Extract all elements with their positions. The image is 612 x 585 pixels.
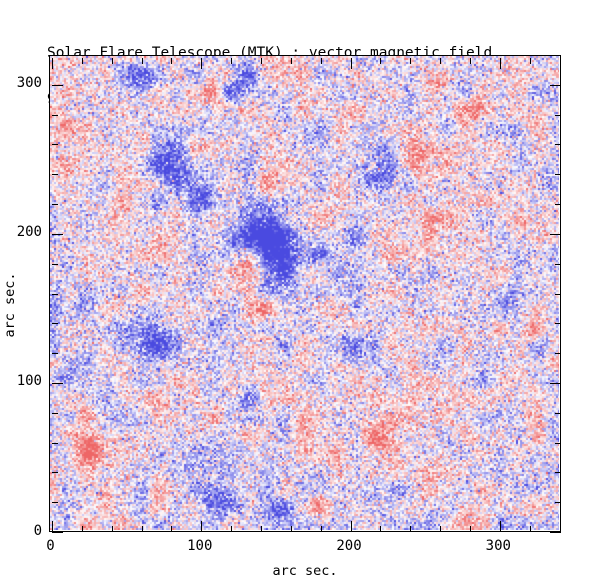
magnetogram-image: [50, 56, 559, 530]
x-tick-label: 200: [336, 538, 361, 554]
x-tick-top-minor: [142, 58, 144, 64]
x-tick-minor: [530, 526, 532, 532]
y-tick-minor: [52, 353, 58, 355]
x-tick-minor: [380, 526, 382, 532]
y-tick-right-minor: [555, 472, 561, 474]
x-tick-major: [201, 521, 203, 532]
x-tick-minor: [171, 526, 173, 532]
x-tick-minor: [261, 526, 263, 532]
x-tick-major: [500, 521, 502, 532]
x-tick-label: 100: [187, 538, 212, 554]
y-tick-major: [52, 532, 63, 534]
x-tick-top-minor: [171, 58, 173, 64]
x-tick-minor: [440, 526, 442, 532]
x-tick-top-major: [201, 58, 203, 69]
y-tick-label: 100: [17, 373, 42, 389]
x-tick-top-major: [351, 58, 353, 69]
x-tick-major: [52, 521, 54, 532]
y-tick-right-minor: [555, 413, 561, 415]
magnetogram-figure: Solar Flare Telescope (MTK) : vector mag…: [0, 0, 612, 585]
x-tick-top-minor: [82, 58, 84, 64]
y-tick-minor: [52, 472, 58, 474]
x-tick-top-minor: [291, 58, 293, 64]
y-tick-label: 200: [17, 224, 42, 240]
y-tick-right-minor: [555, 115, 561, 117]
y-tick-minor: [52, 443, 58, 445]
x-tick-minor: [82, 526, 84, 532]
x-tick-minor: [470, 526, 472, 532]
x-tick-minor: [231, 526, 233, 532]
x-tick-minor: [410, 526, 412, 532]
y-tick-right-minor: [555, 264, 561, 266]
y-tick-major: [52, 85, 63, 87]
y-tick-right-minor: [555, 144, 561, 146]
x-tick-top-minor: [261, 58, 263, 64]
y-tick-right-minor: [555, 502, 561, 504]
x-tick-top-major: [500, 58, 502, 69]
y-tick-right-minor: [555, 174, 561, 176]
x-tick-minor: [112, 526, 114, 532]
y-tick-right-minor: [555, 204, 561, 206]
x-tick-top-minor: [410, 58, 412, 64]
y-tick-right-minor: [555, 294, 561, 296]
x-tick-label: 300: [486, 538, 511, 554]
y-tick-label: 300: [17, 75, 42, 91]
y-tick-right-major: [550, 85, 561, 87]
x-tick-top-minor: [380, 58, 382, 64]
y-tick-label: 0: [34, 523, 42, 539]
x-tick-top-minor: [470, 58, 472, 64]
y-tick-minor: [52, 174, 58, 176]
y-tick-right-major: [550, 383, 561, 385]
x-tick-minor: [291, 526, 293, 532]
y-tick-minor: [52, 323, 58, 325]
x-tick-top-minor: [112, 58, 114, 64]
y-tick-minor: [52, 294, 58, 296]
y-axis-title: arc sec.: [2, 272, 18, 337]
y-tick-minor: [52, 204, 58, 206]
x-tick-top-minor: [231, 58, 233, 64]
y-tick-right-major: [550, 532, 561, 534]
y-tick-minor: [52, 502, 58, 504]
y-tick-minor: [52, 413, 58, 415]
y-tick-right-minor: [555, 443, 561, 445]
x-axis-title: arc sec.: [272, 563, 337, 579]
x-tick-top-minor: [321, 58, 323, 64]
x-tick-minor: [321, 526, 323, 532]
x-tick-label: 0: [46, 538, 54, 554]
y-tick-minor: [52, 115, 58, 117]
x-tick-top-minor: [560, 58, 562, 64]
y-tick-right-major: [550, 234, 561, 236]
y-tick-minor: [52, 264, 58, 266]
y-tick-major: [52, 383, 63, 385]
x-tick-major: [351, 521, 353, 532]
x-tick-minor: [142, 526, 144, 532]
x-tick-top-minor: [440, 58, 442, 64]
y-tick-minor: [52, 144, 58, 146]
y-tick-right-minor: [555, 353, 561, 355]
plot-frame: [49, 55, 561, 532]
x-tick-top-minor: [530, 58, 532, 64]
y-tick-major: [52, 234, 63, 236]
y-tick-right-minor: [555, 323, 561, 325]
x-tick-top-major: [52, 58, 54, 69]
